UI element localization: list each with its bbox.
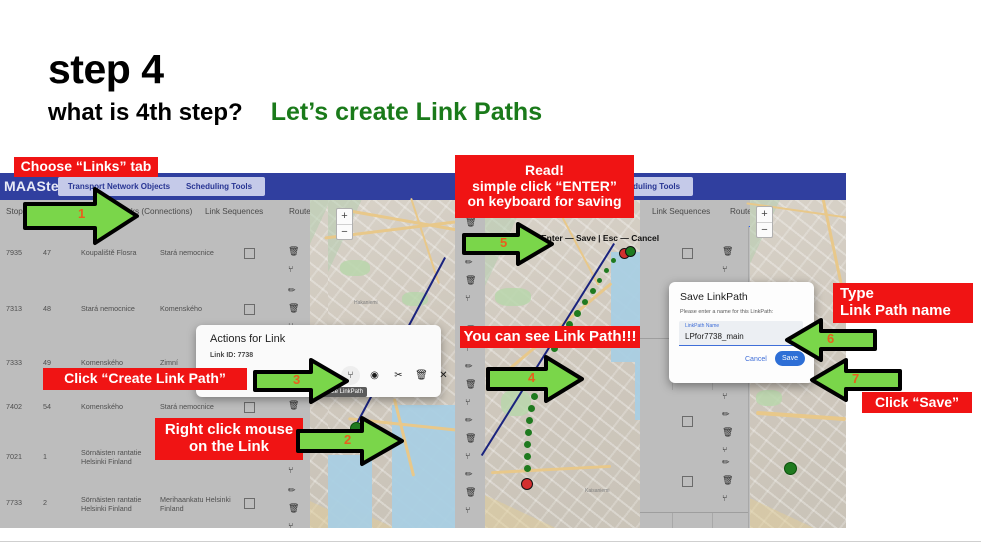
link-path-node (611, 258, 616, 263)
table-row[interactable]: ✏ 🗑 ⑂ (640, 452, 748, 513)
cell-to: Stará nemocnice (160, 402, 230, 411)
actions-popup-title: Actions for Link (210, 333, 285, 345)
cell-stop-id: 7313 (6, 304, 22, 313)
trash-icon[interactable]: 🗑 (465, 434, 476, 443)
link-path-icon[interactable]: ⑂ (465, 452, 470, 461)
page-subtitle-accent: Let’s create Link Paths (271, 98, 542, 126)
map-zoom-control[interactable]: + − (756, 206, 773, 238)
edit-pencil-icon[interactable]: ✏ (722, 410, 730, 419)
save-dialog-subtitle: Please enter a name for this LinkPath: (680, 309, 773, 315)
cell-from: Stará nemocnice (81, 304, 151, 313)
column-header-link-sequences-right[interactable]: Link Sequences (652, 207, 710, 216)
edit-pencil-icon[interactable]: ✏ (288, 486, 296, 495)
cell-seq: 49 (43, 358, 51, 367)
link-path-icon[interactable]: ⑂ (465, 506, 470, 515)
arrow-step-2: 2 (296, 415, 404, 467)
zoom-out-button[interactable]: − (337, 225, 352, 240)
arrow-number-3: 3 (293, 372, 300, 387)
arrow-number-7: 7 (852, 371, 859, 386)
save-dialog-title: Save LinkPath (680, 291, 748, 303)
close-icon[interactable]: ✕ (434, 366, 453, 385)
cell-seq: 1 (43, 452, 47, 461)
arrow-step-4: 4 (486, 355, 584, 403)
link-endpoint-marker[interactable] (784, 462, 797, 475)
cell-from: Sörnäisten rantatie Helsinki Finland (81, 495, 151, 513)
map-label: Kaisaniemi (585, 488, 609, 494)
link-path-icon[interactable]: ⑂ (722, 494, 727, 503)
link-path-node (526, 417, 533, 424)
cut-scissors-icon[interactable]: ✂ (389, 366, 408, 385)
table-row[interactable]: ⑂ ✏ 🗑 ⑂ (640, 390, 748, 453)
cell-stop-id: 7733 (6, 498, 22, 507)
link-path-node (574, 310, 581, 317)
callout-right-click-link: Right click mouse on the Link (155, 418, 303, 460)
arrow-step-6: 6 (783, 318, 877, 362)
link-path-node (597, 278, 602, 283)
page-subtitle: what is 4th step?Let’s create Link Paths (48, 98, 542, 127)
linkpath-name-label: LinkPath Name (685, 323, 719, 329)
zoom-in-button[interactable]: + (757, 207, 772, 223)
cell-seq: 2 (43, 498, 47, 507)
map-park (340, 260, 370, 276)
callout-choose-links-tab: Choose “Links” tab (14, 157, 158, 177)
edit-pencil-icon[interactable]: ✏ (465, 416, 473, 425)
callout-create-link-path: Click “Create Link Path” (43, 368, 247, 390)
trash-icon[interactable]: 🗑 (465, 488, 476, 497)
link-path-node (524, 453, 531, 460)
edit-pencil-icon[interactable]: ✏ (465, 470, 473, 479)
arrow-step-1: 1 (23, 186, 139, 246)
actions-popup-link-id: Link ID: 7738 (210, 352, 253, 359)
trash-icon[interactable]: 🗑 (722, 247, 733, 256)
callout-type-link-path-name: Type Link Path name (833, 283, 973, 323)
row-checkbox[interactable] (682, 476, 693, 487)
tab-scheduling-tools[interactable]: Scheduling Tools (173, 177, 265, 196)
arrow-number-5: 5 (500, 235, 507, 250)
edit-pencil-icon[interactable]: ✏ (465, 362, 473, 371)
cell-to: Komenského (160, 304, 230, 313)
cell-seq: 54 (43, 402, 51, 411)
trash-icon[interactable]: 🗑 (722, 428, 733, 437)
trash-icon[interactable]: 🗑 (465, 380, 476, 389)
trash-icon[interactable]: 🗑 (412, 366, 431, 385)
cell-from: Koupaliště Flosra (81, 248, 151, 257)
link-path-icon[interactable]: ⑂ (722, 392, 727, 401)
row-checkbox[interactable] (244, 248, 255, 259)
view-eye-icon[interactable]: ◉ (365, 366, 384, 385)
link-path-node (582, 299, 588, 305)
link-path-node (524, 465, 531, 472)
trash-icon[interactable]: 🗑 (288, 304, 299, 313)
link-path-icon[interactable]: ⑂ (288, 466, 293, 475)
arrow-step-7: 7 (808, 358, 902, 402)
table-row[interactable]: 7733 2 Sörnäisten rantatie Helsinki Finl… (0, 484, 310, 528)
row-checkbox[interactable] (682, 416, 693, 427)
map-road (491, 465, 611, 474)
map-zoom-control[interactable]: + − (336, 208, 353, 240)
map-park (756, 390, 782, 406)
arrow-number-2: 2 (344, 432, 351, 447)
trash-icon[interactable]: 🗑 (288, 247, 299, 256)
link-path-icon[interactable]: ⑂ (722, 265, 727, 274)
arrow-number-6: 6 (827, 331, 834, 346)
link-path-icon[interactable]: ⑂ (465, 398, 470, 407)
cell-from: Sörnäisten rantatie Helsinki Finland (81, 448, 151, 466)
row-checkbox[interactable] (682, 248, 693, 259)
trash-icon[interactable]: 🗑 (288, 504, 299, 513)
linkpath-name-value: LPfor7738_main (685, 332, 744, 341)
cell-from: Komenského (81, 358, 151, 367)
cancel-button[interactable]: Cancel (745, 356, 767, 363)
link-path-icon[interactable]: ⑂ (288, 522, 293, 528)
map-road (756, 411, 846, 421)
edit-pencil-icon[interactable]: ✏ (288, 286, 296, 295)
map-label: Hakaniemi (354, 300, 378, 306)
link-path-node (590, 288, 596, 294)
enter-save-hint: Enter — Save | Esc — Cancel (541, 233, 659, 243)
link-path-icon[interactable]: ⑂ (288, 265, 293, 274)
arrow-number-4: 4 (528, 370, 535, 385)
callout-see-link-path: You can see Link Path!!! (460, 326, 640, 348)
cell-to: Merihaankatu Helsinki Finland (160, 495, 232, 513)
trash-icon[interactable]: 🗑 (722, 476, 733, 485)
callout-read-enter: Read! simple click “ENTER” on keyboard f… (455, 155, 634, 218)
link-path-terminus-marker[interactable] (521, 478, 533, 490)
edit-pencil-icon[interactable]: ✏ (722, 458, 730, 467)
cell-stop-id: 7402 (6, 402, 22, 411)
column-header-link-sequences[interactable]: Link Sequences (205, 207, 263, 216)
map-park (495, 288, 531, 306)
arrow-step-5: 5 (462, 222, 554, 266)
row-checkbox[interactable] (244, 498, 255, 509)
zoom-out-button[interactable]: − (757, 223, 772, 238)
zoom-in-button[interactable]: + (337, 209, 352, 225)
link-path-end-marker[interactable] (625, 246, 636, 257)
cell-stop-id: 7935 (6, 248, 22, 257)
cell-stop-id: 7333 (6, 358, 22, 367)
trash-icon[interactable]: 🗑 (465, 276, 476, 285)
cell-to: Stará nemocnice (160, 248, 230, 257)
page-subtitle-question: what is 4th step? (48, 99, 243, 126)
link-path-node (524, 441, 531, 448)
link-path-node (525, 429, 532, 436)
link-path-node (604, 268, 609, 273)
page-title: step 4 (48, 46, 164, 93)
link-line (481, 243, 615, 456)
row-checkbox[interactable] (244, 304, 255, 315)
cell-seq: 47 (43, 248, 51, 257)
arrow-step-3: 3 (253, 358, 349, 404)
cell-seq: 48 (43, 304, 51, 313)
cell-from: Komenského (81, 402, 151, 411)
arrow-number-1: 1 (78, 206, 85, 221)
cell-stop-id: 7021 (6, 452, 22, 461)
link-path-icon[interactable]: ⑂ (465, 294, 470, 303)
bottom-divider (0, 541, 981, 542)
link-path-node (528, 405, 535, 412)
